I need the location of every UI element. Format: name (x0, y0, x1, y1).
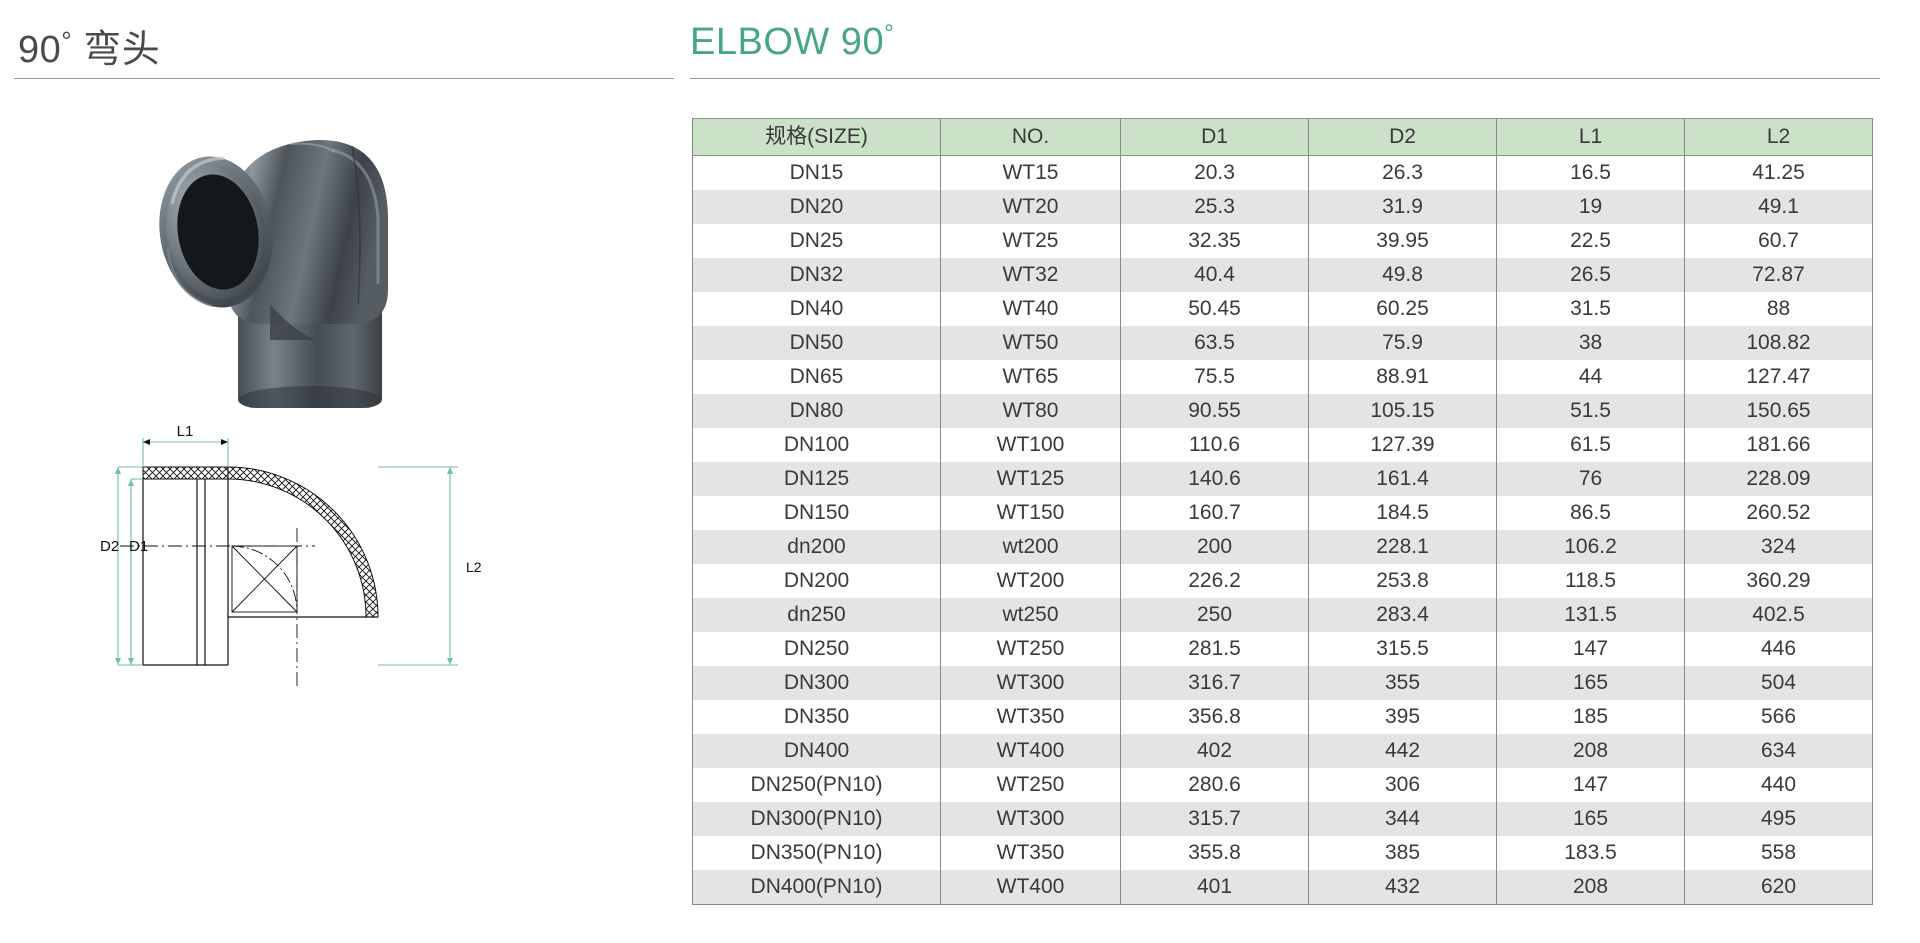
cell-l1: 165 (1497, 802, 1685, 836)
cell-no: WT100 (941, 428, 1121, 462)
table-row: DN100WT100110.6127.3961.5181.66 (693, 428, 1873, 462)
cell-no: WT125 (941, 462, 1121, 496)
cell-no: WT350 (941, 836, 1121, 870)
page-title-chinese: 90° 弯头 (18, 18, 160, 73)
cell-d2: 161.4 (1309, 462, 1497, 496)
cell-d2: 253.8 (1309, 564, 1497, 598)
cell-l2: 150.65 (1685, 394, 1873, 428)
cell-d1: 281.5 (1121, 632, 1309, 666)
page-title-chinese-number: 90 (18, 29, 61, 71)
degree-symbol-en: ° (884, 20, 894, 47)
table-row: DN250(PN10)WT250280.6306147440 (693, 768, 1873, 802)
cell-d1: 160.7 (1121, 496, 1309, 530)
cell-l1: 44 (1497, 360, 1685, 394)
cell-size: DN250(PN10) (693, 768, 941, 802)
cell-l1: 38 (1497, 326, 1685, 360)
cell-no: WT40 (941, 292, 1121, 326)
table-row: DN400WT400402442208634 (693, 734, 1873, 768)
cell-d1: 315.7 (1121, 802, 1309, 836)
cell-l2: 324 (1685, 530, 1873, 564)
cell-size: DN25 (693, 224, 941, 258)
cell-d2: 105.15 (1309, 394, 1497, 428)
cell-size: DN20 (693, 190, 941, 224)
cell-d2: 88.91 (1309, 360, 1497, 394)
page-title-chinese-text: 弯头 (83, 29, 160, 71)
cell-d2: 395 (1309, 700, 1497, 734)
cell-d1: 226.2 (1121, 564, 1309, 598)
cell-d2: 49.8 (1309, 258, 1497, 292)
table-row: DN300(PN10)WT300315.7344165495 (693, 802, 1873, 836)
cell-size: DN15 (693, 156, 941, 191)
column-header-l2: L2 (1685, 119, 1873, 156)
cell-no: wt250 (941, 598, 1121, 632)
cell-l2: 72.87 (1685, 258, 1873, 292)
cell-l1: 19 (1497, 190, 1685, 224)
cell-l1: 131.5 (1497, 598, 1685, 632)
cell-l2: 495 (1685, 802, 1873, 836)
cell-l1: 61.5 (1497, 428, 1685, 462)
cell-d2: 306 (1309, 768, 1497, 802)
cell-size: DN32 (693, 258, 941, 292)
cell-size: DN250 (693, 632, 941, 666)
right-column: ELBOW 90° 规格(SIZE) NO. D1 D2 L1 L2 (690, 0, 1920, 943)
cell-d1: 280.6 (1121, 768, 1309, 802)
cell-size: DN200 (693, 564, 941, 598)
cell-l2: 402.5 (1685, 598, 1873, 632)
cell-l1: 86.5 (1497, 496, 1685, 530)
technical-drawing: L1 L2 D2 D1 (100, 420, 530, 720)
table-row: dn200wt200200228.1106.2324 (693, 530, 1873, 564)
table-row: DN80WT8090.55105.1551.5150.65 (693, 394, 1873, 428)
cell-size: DN50 (693, 326, 941, 360)
cell-d2: 31.9 (1309, 190, 1497, 224)
cell-no: WT15 (941, 156, 1121, 191)
page-title-english-text: ELBOW 90 (690, 21, 884, 63)
cell-l2: 446 (1685, 632, 1873, 666)
cell-l2: 360.29 (1685, 564, 1873, 598)
cell-no: WT350 (941, 700, 1121, 734)
table-row: DN50WT5063.575.938108.82 (693, 326, 1873, 360)
cell-l2: 566 (1685, 700, 1873, 734)
cell-l1: 51.5 (1497, 394, 1685, 428)
cell-no: WT300 (941, 802, 1121, 836)
cell-no: WT250 (941, 632, 1121, 666)
cell-l1: 22.5 (1497, 224, 1685, 258)
cell-no: wt200 (941, 530, 1121, 564)
cell-no: WT250 (941, 768, 1121, 802)
cell-d1: 75.5 (1121, 360, 1309, 394)
cell-l1: 208 (1497, 734, 1685, 768)
cell-l2: 558 (1685, 836, 1873, 870)
product-spec-page: 90° 弯头 (0, 0, 1920, 943)
cell-l1: 185 (1497, 700, 1685, 734)
cell-d2: 127.39 (1309, 428, 1497, 462)
cell-l1: 76 (1497, 462, 1685, 496)
cell-d1: 63.5 (1121, 326, 1309, 360)
cell-d1: 200 (1121, 530, 1309, 564)
elbow-wall-hatch (228, 467, 378, 617)
cell-no: WT400 (941, 870, 1121, 905)
dim-label-l1: L1 (177, 423, 194, 440)
table-row: DN32WT3240.449.826.572.87 (693, 258, 1873, 292)
cell-l2: 108.82 (1685, 326, 1873, 360)
technical-drawing-svg: L1 L2 D2 D1 (100, 420, 530, 720)
table-body: DN15WT1520.326.316.541.25DN20WT2025.331.… (693, 156, 1873, 905)
cell-d1: 90.55 (1121, 394, 1309, 428)
cell-d1: 140.6 (1121, 462, 1309, 496)
cell-l2: 504 (1685, 666, 1873, 700)
cell-size: DN350(PN10) (693, 836, 941, 870)
cell-d2: 39.95 (1309, 224, 1497, 258)
specification-table: 规格(SIZE) NO. D1 D2 L1 L2 DN15WT1520.326.… (692, 118, 1873, 905)
cell-l2: 41.25 (1685, 156, 1873, 191)
cell-l1: 147 (1497, 632, 1685, 666)
cell-l2: 181.66 (1685, 428, 1873, 462)
cell-l1: 165 (1497, 666, 1685, 700)
cell-no: WT32 (941, 258, 1121, 292)
column-header-d1: D1 (1121, 119, 1309, 156)
table-row: DN300WT300316.7355165504 (693, 666, 1873, 700)
degree-symbol-cn: ° (61, 26, 72, 56)
cell-no: WT50 (941, 326, 1121, 360)
cell-l1: 106.2 (1497, 530, 1685, 564)
cell-d2: 228.1 (1309, 530, 1497, 564)
page-title-english: ELBOW 90° (690, 20, 894, 64)
cell-d1: 401 (1121, 870, 1309, 905)
table-row: DN25WT2532.3539.9522.560.7 (693, 224, 1873, 258)
column-header-d2: D2 (1309, 119, 1497, 156)
cell-d1: 250 (1121, 598, 1309, 632)
table-header-row: 规格(SIZE) NO. D1 D2 L1 L2 (693, 119, 1873, 156)
product-photo-svg (120, 108, 460, 408)
cell-d2: 432 (1309, 870, 1497, 905)
cell-l2: 620 (1685, 870, 1873, 905)
cell-size: DN400 (693, 734, 941, 768)
cell-l1: 26.5 (1497, 258, 1685, 292)
cell-size: DN40 (693, 292, 941, 326)
cell-l2: 440 (1685, 768, 1873, 802)
dim-label-d2: D2 (100, 538, 119, 555)
cell-size: DN300 (693, 666, 941, 700)
table-row: dn250wt250250283.4131.5402.5 (693, 598, 1873, 632)
table-row: DN150WT150160.7184.586.5260.52 (693, 496, 1873, 530)
cell-l2: 49.1 (1685, 190, 1873, 224)
cell-l2: 228.09 (1685, 462, 1873, 496)
table-row: DN350(PN10)WT350355.8385183.5558 (693, 836, 1873, 870)
cell-l2: 60.7 (1685, 224, 1873, 258)
table-row: DN200WT200226.2253.8118.5360.29 (693, 564, 1873, 598)
cell-d2: 355 (1309, 666, 1497, 700)
dim-label-l2: L2 (466, 559, 482, 575)
cell-d1: 356.8 (1121, 700, 1309, 734)
cell-d2: 344 (1309, 802, 1497, 836)
cell-d2: 442 (1309, 734, 1497, 768)
cell-d2: 75.9 (1309, 326, 1497, 360)
cell-no: WT20 (941, 190, 1121, 224)
cell-l1: 208 (1497, 870, 1685, 905)
divider-left (14, 78, 674, 79)
cell-no: WT200 (941, 564, 1121, 598)
cell-d1: 32.35 (1121, 224, 1309, 258)
cell-size: DN125 (693, 462, 941, 496)
cell-d1: 316.7 (1121, 666, 1309, 700)
cell-size: dn250 (693, 598, 941, 632)
cell-d1: 50.45 (1121, 292, 1309, 326)
cell-l2: 634 (1685, 734, 1873, 768)
column-header-size: 规格(SIZE) (693, 119, 941, 156)
table-row: DN125WT125140.6161.476228.09 (693, 462, 1873, 496)
cell-size: DN150 (693, 496, 941, 530)
cell-d1: 355.8 (1121, 836, 1309, 870)
cell-l1: 31.5 (1497, 292, 1685, 326)
cell-l1: 16.5 (1497, 156, 1685, 191)
cell-d2: 60.25 (1309, 292, 1497, 326)
cell-no: WT80 (941, 394, 1121, 428)
table-row: DN20WT2025.331.91949.1 (693, 190, 1873, 224)
cell-no: WT65 (941, 360, 1121, 394)
cell-l2: 127.47 (1685, 360, 1873, 394)
cell-size: DN80 (693, 394, 941, 428)
cell-size: DN300(PN10) (693, 802, 941, 836)
table-row: DN350WT350356.8395185566 (693, 700, 1873, 734)
specification-table-wrapper: 规格(SIZE) NO. D1 D2 L1 L2 DN15WT1520.326.… (692, 118, 1872, 905)
cell-no: WT25 (941, 224, 1121, 258)
cell-no: WT400 (941, 734, 1121, 768)
table-row: DN15WT1520.326.316.541.25 (693, 156, 1873, 191)
cell-size: DN400(PN10) (693, 870, 941, 905)
cell-no: WT300 (941, 666, 1121, 700)
cell-d1: 20.3 (1121, 156, 1309, 191)
cell-size: DN100 (693, 428, 941, 462)
table-header: 规格(SIZE) NO. D1 D2 L1 L2 (693, 119, 1873, 156)
cell-d1: 40.4 (1121, 258, 1309, 292)
cell-no: WT150 (941, 496, 1121, 530)
cell-d1: 25.3 (1121, 190, 1309, 224)
cell-l2: 260.52 (1685, 496, 1873, 530)
cell-l1: 183.5 (1497, 836, 1685, 870)
column-header-no: NO. (941, 119, 1121, 156)
dim-label-d1: D1 (129, 538, 148, 555)
left-column: 90° 弯头 (0, 0, 690, 943)
column-header-l1: L1 (1497, 119, 1685, 156)
cell-l1: 147 (1497, 768, 1685, 802)
cell-d2: 315.5 (1309, 632, 1497, 666)
cell-l2: 88 (1685, 292, 1873, 326)
table-row: DN250WT250281.5315.5147446 (693, 632, 1873, 666)
cell-d2: 26.3 (1309, 156, 1497, 191)
cell-size: DN65 (693, 360, 941, 394)
cell-d2: 184.5 (1309, 496, 1497, 530)
cell-size: DN350 (693, 700, 941, 734)
table-row: DN40WT4050.4560.2531.588 (693, 292, 1873, 326)
cell-size: dn200 (693, 530, 941, 564)
table-row: DN65WT6575.588.9144127.47 (693, 360, 1873, 394)
table-row: DN400(PN10)WT400401432208620 (693, 870, 1873, 905)
cell-l1: 118.5 (1497, 564, 1685, 598)
product-photo (120, 108, 460, 408)
divider-right (690, 78, 1880, 79)
cell-d1: 110.6 (1121, 428, 1309, 462)
cell-d2: 385 (1309, 836, 1497, 870)
cell-d1: 402 (1121, 734, 1309, 768)
cell-d2: 283.4 (1309, 598, 1497, 632)
